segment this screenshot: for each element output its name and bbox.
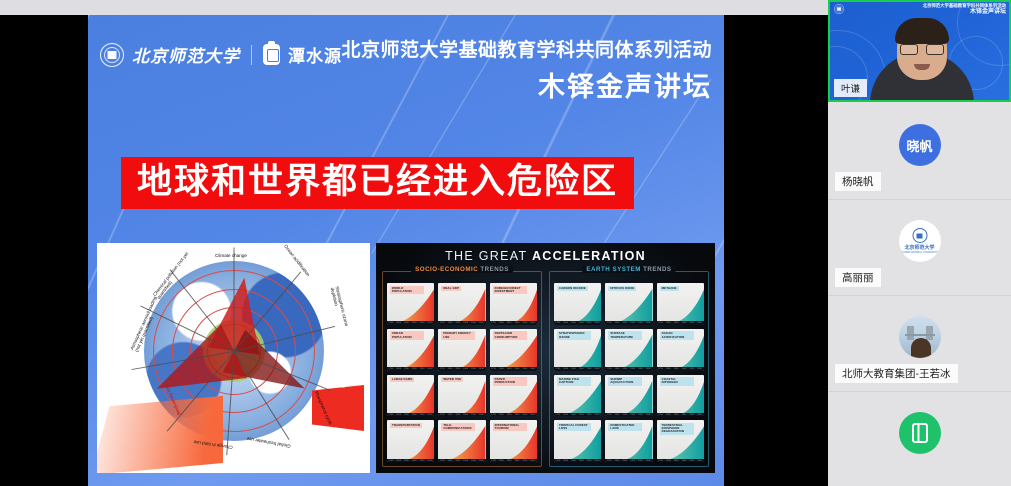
ga-mini-chart-curve	[387, 420, 434, 462]
ga-axis-tick: 1900	[682, 460, 687, 462]
slide-header-line2: 木铎金声讲坛	[538, 65, 712, 104]
ga-mini-chart-curve	[490, 329, 537, 371]
ga-axis-tick: 1850	[404, 460, 409, 462]
ga-mini-chart-curve	[387, 283, 434, 325]
ga-axis-tick: 1850	[622, 460, 627, 462]
ga-title-light: THE GREAT	[445, 249, 532, 263]
ga-axis-tick: 1750	[658, 414, 663, 416]
pb-label-ozone-depletion: Stratospheric ozone depletion	[329, 286, 353, 343]
ga-mini-chart-curve	[605, 375, 652, 417]
participant-sidebar[interactable]: 北京师范大学基础教育学科共同体系列活动 木铎金声讲坛 叶谦 晓帆杨晓帆北京师范大…	[828, 0, 1011, 486]
ga-mini-chart-curve	[438, 329, 485, 371]
ga-axis-tick: 1950	[638, 322, 643, 324]
ga-axis-tick: 1800	[563, 414, 568, 416]
ga-axis-tick: 1900	[463, 322, 468, 324]
ga-mini-chart: COASTAL NITROGEN175018001850190019502000	[657, 375, 704, 417]
speaker-slide-header: 北京师范大学基础教育学科共同体系列活动 木铎金声讲坛	[923, 3, 1006, 16]
ga-mini-chart: FERTILIZER CONSUMPTION175018001850190019…	[490, 329, 537, 371]
ga-mini-chart: WATER USE175018001850190019502000	[438, 375, 485, 417]
ga-mini-chart: MARINE FISH CAPTURE175018001850190019502…	[554, 375, 601, 417]
ga-axis-tick: 1750	[491, 414, 496, 416]
ga-axis-tick: 2000	[594, 368, 599, 370]
ga-axis-tick: 1850	[507, 368, 512, 370]
ga-mini-chart-curve	[657, 420, 704, 462]
ga-axis-tick: 1950	[638, 414, 643, 416]
ga-axis-tick: 1900	[630, 460, 635, 462]
ga-axis-tick: 1900	[463, 460, 468, 462]
participant-name-label: 高丽丽	[835, 268, 881, 287]
ga-axis-tick: 1800	[448, 460, 453, 462]
ga-mini-chart: TRANSPORTATION175018001850190019502000	[387, 420, 434, 462]
ga-mini-chart-curve	[554, 283, 601, 325]
ga-mini-chart-curve	[490, 283, 537, 325]
ga-axis-tick: 2000	[646, 368, 651, 370]
ga-axis-tick: 1950	[471, 322, 476, 324]
ga-axis-tick: 1850	[674, 322, 679, 324]
ga-axis-tick: 1800	[615, 368, 620, 370]
ga-axis-tick: 1900	[463, 414, 468, 416]
ga-mini-chart: REAL GDP175018001850190019502000	[438, 283, 485, 325]
ga-column-earth-system: EARTH SYSTEM TRENDSCARBON DIOXIDE1750180…	[549, 271, 709, 467]
ga-axis-tick: 1950	[638, 460, 643, 462]
avatar-logo-cn: 北京师范大学	[904, 244, 934, 251]
slide-header: 北京师范大学 潭水源 北京师范大学基础教育学科共同体系列活动 木铎金声讲坛	[88, 15, 724, 125]
speaker-slide-header-line2: 木铎金声讲坛	[923, 9, 1006, 17]
ga-axis-tick: 1850	[455, 414, 460, 416]
ga-axis-tick: 1800	[666, 414, 671, 416]
ga-axis-tick: 1800	[563, 368, 568, 370]
ga-axis-tick: 1900	[630, 322, 635, 324]
ga-chart-grid: WORLD POPULATION175018001850190019502000…	[387, 283, 537, 462]
ga-axis-tick: 1750	[491, 368, 496, 370]
ga-title-bold: ACCELERATION	[532, 249, 646, 263]
great-acceleration-columns: SOCIO-ECONOMIC TRENDSWORLD POPULATION175…	[382, 271, 709, 467]
ga-axis-tick: 1750	[607, 322, 612, 324]
avatar-water-bottle-icon	[899, 412, 941, 454]
ga-axis-tick: 1900	[682, 322, 687, 324]
ga-axis-tick: 1850	[507, 322, 512, 324]
ga-axis-tick: 1950	[522, 368, 527, 370]
ga-mini-chart-curve	[657, 283, 704, 325]
ga-mini-chart: LARGE DAMS175018001850190019502000	[387, 375, 434, 417]
ga-mini-chart-curve	[554, 329, 601, 371]
ga-mini-chart-axis: 175018001850190019502000	[387, 367, 434, 371]
university-name: 北京师范大学	[132, 42, 240, 67]
ga-axis-tick: 1900	[412, 414, 417, 416]
slide-figure-row: Climate change Ocean acidification Strat…	[97, 243, 715, 473]
ga-axis-tick: 1750	[440, 322, 445, 324]
ga-axis-tick: 1750	[658, 322, 663, 324]
ga-axis-tick: 1950	[420, 368, 425, 370]
ga-mini-chart: STRATOSPHERIC OZONE175018001850190019502…	[554, 329, 601, 371]
ga-mini-chart-curve	[554, 375, 601, 417]
ga-axis-tick: 1950	[587, 368, 592, 370]
ga-axis-tick: 1850	[622, 414, 627, 416]
ga-axis-tick: 2000	[530, 460, 535, 462]
ga-axis-tick: 1800	[396, 368, 401, 370]
ga-mini-chart-curve	[657, 329, 704, 371]
ga-mini-chart-axis: 175018001850190019502000	[490, 459, 537, 463]
ga-axis-tick: 2000	[427, 368, 432, 370]
ga-axis-tick: 1800	[499, 414, 504, 416]
ga-axis-tick: 1950	[471, 414, 476, 416]
ga-axis-tick: 1750	[388, 414, 393, 416]
ga-mini-chart-curve	[657, 375, 704, 417]
pb-label-global-freshwater-use: Global freshwater use	[239, 435, 291, 449]
speaker-slide-header-line1: 北京师范大学基础教育学科共同体系列活动	[923, 3, 1006, 9]
ga-axis-tick: 1850	[622, 368, 627, 370]
ga-axis-tick: 1800	[396, 322, 401, 324]
bnu-seal-icon	[100, 43, 124, 67]
ga-mini-chart: FOREIGN DIRECT INVESTMENT175018001850190…	[490, 283, 537, 325]
ga-axis-tick: 1900	[682, 368, 687, 370]
ga-axis-tick: 2000	[697, 322, 702, 324]
avatar-bnu-logo-icon: 北京师范大学BEIJING NORMAL UNIVERSITY	[899, 220, 941, 262]
ga-mini-chart-axis: 175018001850190019502000	[438, 321, 485, 325]
bnu-seal-icon-tiny	[912, 228, 927, 243]
ga-axis-tick: 1900	[463, 368, 468, 370]
ga-mini-chart: TERRESTRIAL BIOSPHERE DEGRADATION1750180…	[657, 420, 704, 462]
participant-name-label: 北师大教育集团-王若冰	[835, 364, 958, 383]
ga-axis-tick: 1850	[507, 414, 512, 416]
avatar: 晓帆	[899, 124, 941, 166]
bnu-seal-icon-small	[834, 4, 844, 14]
ga-mini-chart-axis: 175018001850190019502000	[554, 413, 601, 417]
ga-axis-tick: 1800	[615, 322, 620, 324]
ga-axis-tick: 1800	[396, 414, 401, 416]
ga-axis-tick: 1900	[412, 322, 417, 324]
ga-axis-tick: 1800	[448, 322, 453, 324]
ga-axis-tick: 1900	[630, 368, 635, 370]
ga-axis-tick: 1800	[499, 460, 504, 462]
ga-axis-tick: 2000	[530, 322, 535, 324]
ga-column-header: SOCIO-ECONOMIC TRENDS	[411, 266, 513, 273]
ga-axis-tick: 2000	[479, 322, 484, 324]
ga-mini-chart-axis: 175018001850190019502000	[490, 413, 537, 417]
ga-axis-tick: 1850	[404, 414, 409, 416]
ga-axis-tick: 1750	[555, 368, 560, 370]
ga-axis-tick: 1900	[515, 414, 520, 416]
ga-axis-tick: 2000	[594, 460, 599, 462]
ga-mini-chart-axis: 175018001850190019502000	[657, 367, 704, 371]
ga-mini-chart-axis: 175018001850190019502000	[438, 459, 485, 463]
ga-mini-chart: PAPER PRODUCTION175018001850190019502000	[490, 375, 537, 417]
ga-axis-tick: 2000	[697, 368, 702, 370]
ga-axis-tick: 1950	[420, 322, 425, 324]
ga-axis-tick: 1900	[682, 414, 687, 416]
ga-mini-chart-curve	[605, 283, 652, 325]
ga-mini-chart-curve	[605, 329, 652, 371]
ga-axis-tick: 1800	[499, 322, 504, 324]
ga-mini-chart-axis: 175018001850190019502000	[438, 413, 485, 417]
ga-axis-tick: 2000	[479, 460, 484, 462]
ga-axis-tick: 2000	[697, 460, 702, 462]
brand-divider	[251, 45, 252, 65]
ga-mini-chart-axis: 175018001850190019502000	[657, 321, 704, 325]
avatar-logo-en: BEIJING NORMAL UNIVERSITY	[900, 251, 939, 254]
ga-axis-tick: 1800	[448, 414, 453, 416]
presentation-slide: 北京师范大学 潭水源 北京师范大学基础教育学科共同体系列活动 木铎金声讲坛 地球…	[88, 15, 724, 486]
ga-axis-tick: 1950	[420, 414, 425, 416]
ga-mini-chart: INTERNATIONAL TOURISM1750180018501900195…	[490, 420, 537, 462]
ga-axis-tick: 1850	[455, 368, 460, 370]
ga-axis-tick: 2000	[646, 322, 651, 324]
ga-axis-tick: 1950	[522, 460, 527, 462]
ga-axis-tick: 2000	[479, 368, 484, 370]
ga-mini-chart: WORLD POPULATION175018001850190019502000	[387, 283, 434, 325]
ga-axis-tick: 1900	[579, 414, 584, 416]
ga-axis-tick: 1850	[404, 322, 409, 324]
ga-axis-tick: 1950	[689, 460, 694, 462]
participant-tile[interactable]: 北师大教育集团-王若冰	[828, 296, 1011, 392]
ga-mini-chart-curve	[605, 420, 652, 462]
ga-axis-tick: 1800	[666, 368, 671, 370]
ga-axis-tick: 1800	[448, 368, 453, 370]
ga-axis-tick: 1900	[515, 368, 520, 370]
ga-axis-tick: 2000	[697, 414, 702, 416]
ga-axis-tick: 1800	[563, 460, 568, 462]
ga-mini-chart-axis: 175018001850190019502000	[605, 367, 652, 371]
great-acceleration-title: THE GREAT ACCELERATION	[376, 249, 715, 263]
ga-axis-tick: 1950	[689, 322, 694, 324]
ga-axis-tick: 2000	[479, 414, 484, 416]
ga-axis-tick: 1900	[630, 414, 635, 416]
ga-axis-tick: 1850	[571, 460, 576, 462]
ga-mini-chart-curve	[438, 283, 485, 325]
ga-axis-tick: 2000	[427, 322, 432, 324]
slide-red-title-banner: 地球和世界都已经进入危险区	[121, 157, 634, 209]
ga-column-header: EARTH SYSTEM TRENDS	[582, 266, 675, 273]
ga-chart-grid: CARBON DIOXIDE175018001850190019502000NI…	[554, 283, 704, 462]
ga-axis-tick: 1850	[455, 460, 460, 462]
ga-mini-chart: CARBON DIOXIDE175018001850190019502000	[554, 283, 601, 325]
ga-axis-tick: 2000	[594, 414, 599, 416]
ga-mini-chart: TROPICAL FOREST LOSS17501800185019001950…	[554, 420, 601, 462]
great-acceleration-poster: THE GREAT ACCELERATION SOCIO-ECONOMIC TR…	[376, 243, 715, 473]
ga-axis-tick: 1900	[515, 322, 520, 324]
active-speaker-name-label: 叶谦	[834, 79, 867, 97]
ga-axis-tick: 2000	[427, 414, 432, 416]
ga-axis-tick: 1850	[571, 414, 576, 416]
ga-axis-tick: 1800	[615, 414, 620, 416]
ga-axis-tick: 1750	[388, 460, 393, 462]
ga-mini-chart-curve	[438, 420, 485, 462]
ga-axis-tick: 2000	[594, 322, 599, 324]
ga-axis-tick: 1800	[666, 460, 671, 462]
ga-mini-chart-axis: 175018001850190019502000	[387, 459, 434, 463]
ga-axis-tick: 1750	[658, 368, 663, 370]
ga-mini-chart-axis: 175018001850190019502000	[554, 459, 601, 463]
ga-mini-chart: METHANE175018001850190019502000	[657, 283, 704, 325]
ga-mini-chart-curve	[490, 420, 537, 462]
ga-axis-tick: 1750	[607, 460, 612, 462]
speaker-webcam-figure	[866, 18, 978, 102]
ga-axis-tick: 1950	[689, 368, 694, 370]
ga-axis-tick: 1850	[507, 460, 512, 462]
ga-axis-tick: 1750	[440, 414, 445, 416]
ga-mini-chart: URBAN POPULATION175018001850190019502000	[387, 329, 434, 371]
ga-mini-chart: PRIMARY ENERGY USE1750180018501900195020…	[438, 329, 485, 371]
ga-mini-chart-axis: 175018001850190019502000	[387, 413, 434, 417]
ga-axis-tick: 1750	[491, 460, 496, 462]
ga-axis-tick: 1750	[440, 460, 445, 462]
ga-axis-tick: 1950	[522, 414, 527, 416]
ga-axis-tick: 1750	[388, 368, 393, 370]
ga-mini-chart: OCEAN ACIDIFICATION175018001850190019502…	[657, 329, 704, 371]
ga-axis-tick: 1900	[579, 368, 584, 370]
ga-axis-tick: 1950	[587, 414, 592, 416]
ga-axis-tick: 1850	[404, 368, 409, 370]
ga-axis-tick: 2000	[646, 414, 651, 416]
ga-axis-tick: 1950	[420, 460, 425, 462]
ga-axis-tick: 1850	[674, 414, 679, 416]
participant-name-label: 杨晓帆	[835, 172, 881, 191]
ga-axis-tick: 1750	[440, 368, 445, 370]
ga-axis-tick: 1750	[658, 460, 663, 462]
ga-axis-tick: 1850	[674, 368, 679, 370]
ga-axis-tick: 1750	[555, 460, 560, 462]
ga-mini-chart-axis: 175018001850190019502000	[490, 367, 537, 371]
ga-axis-tick: 1950	[471, 460, 476, 462]
ga-axis-tick: 1900	[515, 460, 520, 462]
ga-axis-tick: 2000	[646, 460, 651, 462]
ga-mini-chart-curve	[387, 329, 434, 371]
participant-tile[interactable]	[828, 392, 1011, 486]
ga-mini-chart-curve	[387, 375, 434, 417]
participant-tile[interactable]: 北京师范大学BEIJING NORMAL UNIVERSITY高丽丽	[828, 200, 1011, 296]
shared-screen-stage[interactable]: 北京师范大学 潭水源 北京师范大学基础教育学科共同体系列活动 木铎金声讲坛 地球…	[0, 15, 828, 486]
ga-mini-chart-axis: 175018001850190019502000	[438, 367, 485, 371]
ga-mini-chart-axis: 175018001850190019502000	[657, 459, 704, 463]
ga-mini-chart: NITROUS OXIDE175018001850190019502000	[605, 283, 652, 325]
participant-tile[interactable]: 晓帆杨晓帆	[828, 104, 1011, 200]
ga-mini-chart-curve	[554, 420, 601, 462]
ga-axis-tick: 2000	[530, 368, 535, 370]
ga-mini-chart-axis: 175018001850190019502000	[605, 321, 652, 325]
brand-lockup: 北京师范大学 潭水源	[100, 42, 342, 67]
ga-axis-tick: 1850	[674, 460, 679, 462]
ga-axis-tick: 1950	[471, 368, 476, 370]
ga-axis-tick: 1800	[396, 460, 401, 462]
ga-axis-tick: 2000	[427, 460, 432, 462]
water-bottle-icon	[263, 44, 280, 65]
ga-mini-chart: SHRIMP AQUACULTURE1750180018501900195020…	[605, 375, 652, 417]
ga-axis-tick: 1750	[491, 322, 496, 324]
ga-mini-chart-axis: 175018001850190019502000	[490, 321, 537, 325]
ga-axis-tick: 1850	[571, 322, 576, 324]
ga-mini-chart-axis: 175018001850190019502000	[605, 459, 652, 463]
ga-axis-tick: 1900	[412, 368, 417, 370]
ga-mini-chart-curve	[490, 375, 537, 417]
ga-axis-tick: 1800	[499, 368, 504, 370]
ga-axis-tick: 1950	[587, 322, 592, 324]
ga-axis-tick: 1750	[555, 322, 560, 324]
ga-mini-chart-axis: 175018001850190019502000	[605, 413, 652, 417]
ga-axis-tick: 1850	[622, 322, 627, 324]
ga-axis-tick: 1750	[607, 414, 612, 416]
screen-share-window: 北京师范大学 潭水源 北京师范大学基础教育学科共同体系列活动 木铎金声讲坛 地球…	[0, 0, 1011, 486]
ga-axis-tick: 1800	[563, 322, 568, 324]
ga-axis-tick: 1900	[579, 322, 584, 324]
ga-axis-tick: 1850	[571, 368, 576, 370]
ga-axis-tick: 1800	[615, 460, 620, 462]
ga-mini-chart-curve	[438, 375, 485, 417]
person-silhouette	[911, 338, 931, 358]
ga-axis-tick: 1900	[579, 460, 584, 462]
ga-mini-chart-axis: 175018001850190019502000	[387, 321, 434, 325]
ga-axis-tick: 1900	[412, 460, 417, 462]
slide-header-line1: 北京师范大学基础教育学科共同体系列活动	[341, 35, 712, 62]
ga-mini-chart-axis: 175018001850190019502000	[554, 321, 601, 325]
planetary-boundaries-diagram: Climate change Ocean acidification Strat…	[97, 243, 370, 473]
slide-title-text: 地球和世界都已经进入危险区	[137, 162, 618, 201]
ga-column-socio-economic: SOCIO-ECONOMIC TRENDSWORLD POPULATION175…	[382, 271, 542, 467]
ga-axis-tick: 1850	[455, 322, 460, 324]
ga-axis-tick: 1750	[388, 322, 393, 324]
ga-axis-tick: 1950	[587, 460, 592, 462]
ga-axis-tick: 2000	[530, 414, 535, 416]
speaker-slide-logo	[834, 4, 844, 14]
ga-mini-chart-axis: 175018001850190019502000	[657, 413, 704, 417]
ga-axis-tick: 1750	[555, 414, 560, 416]
ga-axis-tick: 1800	[666, 322, 671, 324]
ga-axis-tick: 1950	[638, 368, 643, 370]
active-speaker-video-tile[interactable]: 北京师范大学基础教育学科共同体系列活动 木铎金声讲坛 叶谦	[828, 0, 1011, 102]
ga-mini-chart: SURFACE TEMPERATURE175018001850190019502…	[605, 329, 652, 371]
ga-axis-tick: 1750	[607, 368, 612, 370]
ga-axis-tick: 1950	[522, 322, 527, 324]
ga-axis-tick: 1950	[689, 414, 694, 416]
ga-mini-chart: TELE-COMMUNICATIONS175018001850190019502…	[438, 420, 485, 462]
pb-label-climate-change: Climate change	[201, 253, 261, 258]
partner-name: 潭水源	[288, 42, 342, 67]
ga-mini-chart: DOMESTICATED LAND17501800185019001950200…	[605, 420, 652, 462]
ga-mini-chart-axis: 175018001850190019502000	[554, 367, 601, 371]
avatar-photo	[899, 316, 941, 358]
